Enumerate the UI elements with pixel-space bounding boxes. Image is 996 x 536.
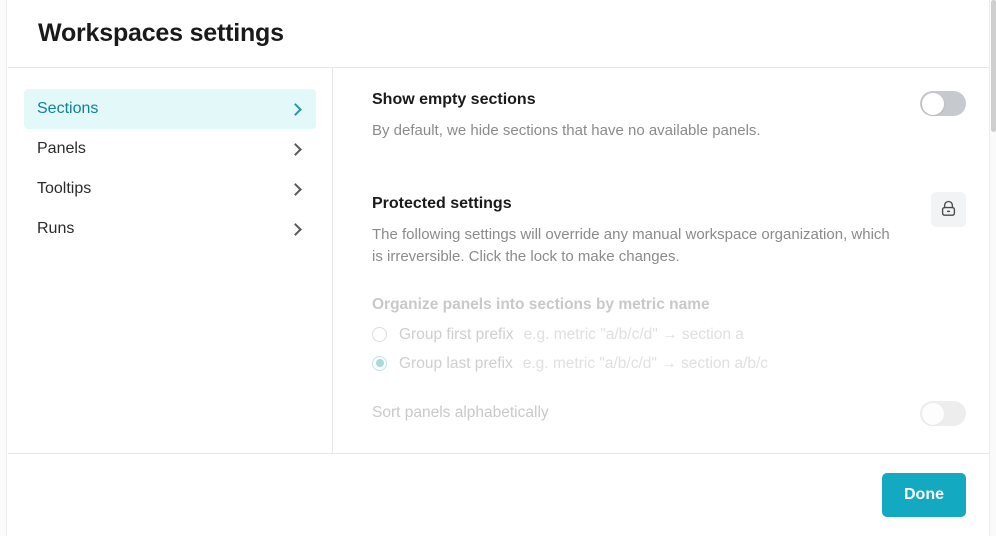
sort-panels-setting: Sort panels alphabetically (372, 400, 966, 426)
done-button[interactable]: Done (882, 473, 966, 517)
protected-settings-title: Protected settings (372, 194, 902, 213)
show-empty-sections-toggle[interactable] (920, 91, 966, 116)
modal-header: Workspaces settings (8, 0, 996, 68)
organize-panels-heading: Organize panels into sections by metric … (372, 296, 966, 315)
sidebar-item-label: Runs (37, 221, 74, 237)
radio-group-first-prefix[interactable] (372, 327, 387, 342)
radio-group-last-prefix[interactable] (372, 356, 387, 371)
chevron-right-icon (289, 223, 302, 236)
protected-settings-texts: Protected settings The following setting… (372, 194, 902, 268)
organize-panels-group: Organize panels into sections by metric … (372, 296, 966, 427)
radio-label-group-first-prefix: Group first prefix (399, 327, 514, 343)
sort-panels-toggle[interactable] (920, 401, 966, 426)
settings-content: Show empty sections By default, we hide … (333, 68, 996, 453)
chevron-right-icon (289, 143, 302, 156)
page-title: Workspaces settings (38, 21, 284, 46)
radio-hint-group-last-prefix: e.g. metric "a/b/c/d" → section a/b/c (523, 356, 768, 372)
radio-hint-group-first-prefix: e.g. metric "a/b/c/d" → section a (524, 327, 744, 343)
modal-body: Sections Panels Tooltips Runs Show em (8, 68, 996, 453)
radio-row-group-first-prefix[interactable]: Group first prefix e.g. metric "a/b/c/d"… (372, 327, 966, 343)
sidebar-item-label: Sections (37, 101, 98, 117)
lock-icon (940, 200, 957, 218)
sidebar-item-label: Panels (37, 141, 86, 157)
show-empty-sections-setting: Show empty sections By default, we hide … (372, 90, 966, 142)
page-scrollbar-thumb[interactable] (991, 0, 996, 132)
page-scrollbar[interactable] (989, 0, 996, 536)
page-behind-left-edge (0, 0, 7, 536)
lock-button[interactable] (931, 192, 966, 227)
sidebar-item-panels[interactable]: Panels (24, 129, 316, 169)
toggle-knob (922, 93, 944, 115)
settings-sidebar: Sections Panels Tooltips Runs (8, 68, 333, 453)
sidebar-item-tooltips[interactable]: Tooltips (24, 169, 316, 209)
show-empty-sections-description: By default, we hide sections that have n… (372, 120, 761, 142)
modal-footer: Done (8, 453, 996, 536)
show-empty-sections-texts: Show empty sections By default, we hide … (372, 90, 761, 142)
sidebar-item-runs[interactable]: Runs (24, 209, 316, 249)
show-empty-sections-title: Show empty sections (372, 90, 761, 109)
protected-settings-description: The following settings will override any… (372, 224, 902, 268)
sidebar-item-sections[interactable]: Sections (24, 89, 316, 129)
workspaces-settings-modal: Workspaces settings Sections Panels Tool… (0, 0, 996, 536)
radio-label-group-last-prefix: Group last prefix (399, 356, 513, 372)
radio-row-group-last-prefix[interactable]: Group last prefix e.g. metric "a/b/c/d" … (372, 356, 966, 372)
sidebar-item-label: Tooltips (37, 181, 91, 197)
toggle-knob (922, 403, 944, 425)
sort-panels-label: Sort panels alphabetically (372, 405, 549, 421)
protected-settings-setting: Protected settings The following setting… (372, 194, 966, 268)
chevron-right-icon (289, 183, 302, 196)
chevron-right-icon (289, 103, 302, 116)
